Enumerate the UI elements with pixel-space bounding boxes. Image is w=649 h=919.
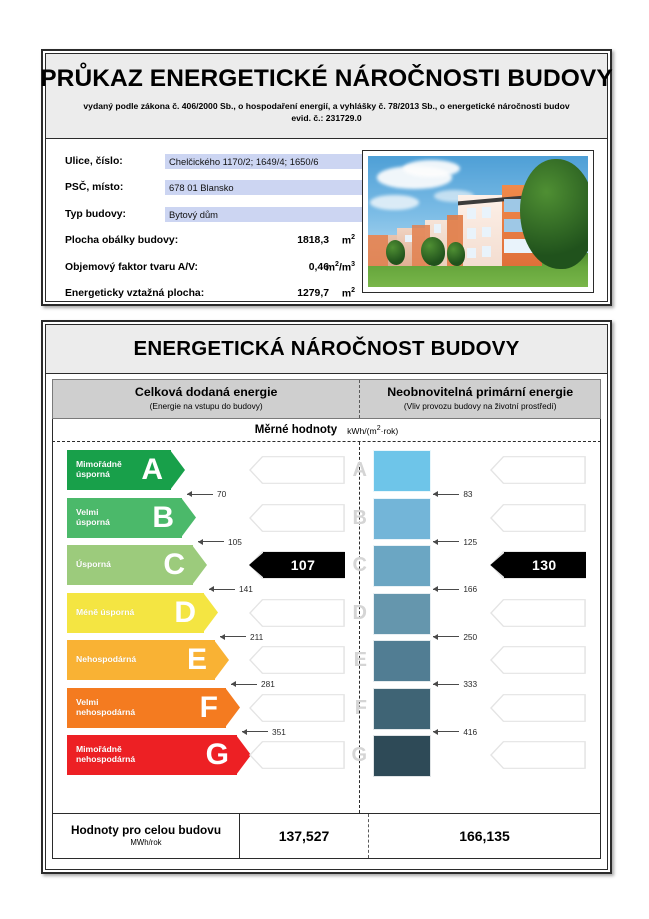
energy-class-letter: C [163, 550, 185, 580]
field-postcode-city: PSČ, místo: 678 01 Blansko [65, 177, 365, 199]
threshold-arrow-icon [433, 731, 459, 732]
identification-fields: Ulice, číslo: Chelčického 1170/2; 1649/4… [65, 150, 365, 309]
energy-scale-area: Mimořádně úspornáA70Velmi úspornáB105Úsp… [52, 441, 601, 813]
photo-tree [447, 242, 465, 266]
photo-window [482, 207, 491, 217]
threshold-value: 281 [261, 679, 275, 689]
document-subtitle-line1: vydaný podle zákona č. 406/2000 Sb., o h… [83, 101, 569, 113]
result-slot-primary-f [490, 694, 586, 722]
threshold-value: 125 [463, 537, 477, 547]
metric-envelope-area-unit: m2 [342, 234, 355, 246]
energy-class-bar-d: Méně úspornáD [67, 593, 218, 633]
totals-label-main: Hodnoty pro celou budovu [71, 825, 221, 837]
totals-label-unit: MWh/rok [130, 839, 161, 847]
energy-class-name: Velmi nehospodárná [67, 698, 135, 717]
unit-row-label: Měrné hodnoty [255, 424, 337, 436]
result-marker-delivered: 107 [249, 552, 345, 578]
column-header-primary: Neobnovitelná primární energie (Vliv pro… [360, 380, 600, 418]
energy-class-arrow-tip [214, 640, 229, 680]
energy-column-headers: Celková dodaná energie (Energie na vstup… [52, 379, 601, 419]
threshold-marker-primary: 416 [433, 727, 477, 737]
threshold-arrow-icon [187, 494, 213, 495]
energy-section-title: ENERGETICKÁ NÁROČNOST BUDOVY [133, 337, 519, 361]
threshold-value: 105 [228, 537, 242, 547]
primary-energy-block-f [373, 688, 431, 730]
metric-envelope-area: Plocha obálky budovy: 1818,3 m2 [65, 230, 365, 252]
result-marker-tip [490, 552, 505, 578]
energy-class-arrow: Mimořádně úspornáA [67, 450, 185, 490]
result-marker-value: 130 [520, 557, 557, 573]
delivered-energy-column: Mimořádně úspornáA70Velmi úspornáB105Úsp… [53, 442, 359, 813]
metric-shape-factor-unit: m2/m3 [326, 261, 355, 273]
threshold-arrow-icon [220, 636, 246, 637]
metric-reference-area: Energeticky vztažná plocha: 1279,7 m2 [65, 283, 365, 305]
page-title: PRŮKAZ ENERGETICKÉ NÁROČNOSTI BUDOVY [40, 67, 613, 92]
photo-facade-accent [368, 235, 388, 266]
field-building-type-value[interactable]: Bytový dům [165, 207, 365, 222]
threshold-value: 83 [463, 489, 472, 499]
result-marker-primary: 130 [490, 552, 586, 578]
result-slot-delivered-g: G [249, 741, 345, 769]
photo-tree [386, 240, 406, 265]
energy-class-bar-f: Velmi nehospodárnáF [67, 688, 240, 728]
energy-class-arrow: Mimořádně nehospodárnáG [67, 735, 251, 775]
threshold-marker-primary: 125 [433, 537, 477, 547]
photo-window [467, 248, 476, 258]
field-street-value[interactable]: Chelčického 1170/2; 1649/4; 1650/6 [165, 154, 365, 169]
threshold-arrow-icon [433, 589, 459, 590]
totals-primary-value: 166,135 [369, 814, 600, 858]
result-slot-delivered-e: E [249, 646, 345, 674]
threshold-arrow-icon [433, 636, 459, 637]
energy-performance-panel: ENERGETICKÁ NÁROČNOST BUDOVY Celková dod… [41, 320, 612, 874]
energy-class-arrow: Méně úspornáD [67, 593, 218, 633]
field-postcode-city-value[interactable]: 678 01 Blansko [165, 180, 365, 195]
column-header-delivered: Celková dodaná energie (Energie na vstup… [53, 380, 360, 418]
photo-window [467, 208, 476, 218]
field-building-type: Typ budovy: Bytový dům [65, 203, 365, 225]
identification-panel-inner: PRŮKAZ ENERGETICKÉ NÁROČNOSTI BUDOVY vyd… [45, 53, 608, 302]
threshold-arrow-icon [433, 541, 459, 542]
document-evidence-number: evid. č.: 231729.0 [291, 113, 361, 125]
photo-window [434, 224, 441, 233]
energy-class-arrow-tip [170, 450, 185, 490]
result-marker-value: 107 [279, 557, 316, 573]
threshold-arrow-icon [242, 731, 268, 732]
threshold-value: 141 [239, 584, 253, 594]
energy-class-letter: A [141, 455, 163, 485]
energy-class-arrow-tip [181, 498, 196, 538]
primary-energy-block-c [373, 545, 431, 587]
penb-document: PRŮKAZ ENERGETICKÉ NÁROČNOSTI BUDOVY vyd… [0, 0, 649, 919]
totals-row: Hodnoty pro celou budovu MWh/rok 137,527… [52, 813, 601, 859]
energy-class-bar-c: ÚspornáC [67, 545, 207, 585]
result-slot-primary-b [490, 504, 586, 532]
threshold-marker-primary: 166 [433, 584, 477, 594]
result-slot-primary-e [490, 646, 586, 674]
energy-class-name: Mimořádně úsporná [67, 460, 122, 479]
photo-window [467, 228, 476, 238]
energy-class-name: Velmi úsporná [67, 508, 110, 527]
energy-class-name: Méně úsporná [67, 608, 134, 618]
primary-energy-block-b [373, 498, 431, 540]
photo-window [482, 246, 491, 256]
threshold-value: 70 [217, 489, 226, 499]
document-title-band: PRŮKAZ ENERGETICKÉ NÁROČNOSTI BUDOVY vyd… [46, 54, 607, 139]
metric-shape-factor: Objemový faktor tvaru A/V: 0,46 m2/m3 [65, 256, 365, 278]
field-street: Ulice, číslo: Chelčického 1170/2; 1649/4… [65, 150, 365, 172]
result-slot-primary-g [490, 741, 586, 769]
metric-reference-area-unit: m2 [342, 287, 355, 299]
column-header-delivered-title: Celková dodaná energie [135, 386, 278, 399]
result-slot-delivered-a: A [249, 456, 345, 484]
metric-reference-area-label: Energeticky vztažná plocha: [65, 288, 230, 299]
column-header-primary-subtitle: (Vliv provozu budovy na životní prostřed… [404, 401, 557, 411]
threshold-arrow-icon [198, 541, 224, 542]
energy-class-bar-b: Velmi úspornáB [67, 498, 196, 538]
threshold-arrow-icon [433, 494, 459, 495]
threshold-value: 333 [463, 679, 477, 689]
photo-tree [421, 237, 445, 266]
photo-cloud [403, 160, 460, 177]
energy-class-bar-e: NehospodárnáE [67, 640, 229, 680]
photo-window [405, 235, 412, 243]
energy-class-letter: G [206, 740, 229, 770]
energy-class-arrow-tip [203, 593, 218, 633]
energy-class-arrow: Velmi nehospodárnáF [67, 688, 240, 728]
energy-class-letter: F [200, 693, 218, 723]
primary-energy-block-a [373, 450, 431, 492]
threshold-value: 351 [272, 727, 286, 737]
unit-row: Měrné hodnoty kWh/(m2·rok) [52, 419, 601, 441]
building-photo [368, 156, 588, 287]
column-header-primary-title: Neobnovitelná primární energie [387, 386, 573, 399]
energy-class-arrow-tip [192, 545, 207, 585]
energy-class-name: Mimořádně nehospodárná [67, 745, 135, 764]
threshold-marker-primary: 250 [433, 632, 477, 642]
threshold-arrow-icon [209, 589, 235, 590]
energy-class-letter: D [174, 598, 196, 628]
primary-energy-block-d [373, 593, 431, 635]
result-marker-tip [249, 552, 264, 578]
threshold-value: 166 [463, 584, 477, 594]
threshold-value: 250 [463, 632, 477, 642]
identification-panel: PRŮKAZ ENERGETICKÉ NÁROČNOSTI BUDOVY vyd… [41, 49, 612, 306]
energy-class-letter: B [152, 503, 174, 533]
threshold-arrow-icon [231, 684, 257, 685]
energy-class-bar-g: Mimořádně nehospodárnáG [67, 735, 251, 775]
result-slot-delivered-b: B [249, 504, 345, 532]
threshold-marker-primary: 333 [433, 679, 477, 689]
threshold-value: 211 [250, 632, 263, 642]
energy-class-arrow-tip [225, 688, 240, 728]
field-postcode-city-label: PSČ, místo: [65, 182, 165, 193]
column-header-delivered-subtitle: (Energie na vstupu do budovy) [150, 401, 263, 411]
energy-class-name: Nehospodárná [67, 655, 136, 665]
energy-class-letter: E [187, 645, 207, 675]
threshold-value: 416 [463, 727, 477, 737]
result-slot-delivered-d: D [249, 599, 345, 627]
threshold-marker-primary: 83 [433, 489, 472, 499]
energy-class-arrow: ÚspornáC [67, 545, 207, 585]
result-slot-primary-a [490, 456, 586, 484]
result-slot-delivered-f: F [249, 694, 345, 722]
totals-delivered-value: 137,527 [240, 814, 369, 858]
unit-row-unit: kWh/(m2·rok) [347, 425, 398, 436]
metric-shape-factor-label: Objemový faktor tvaru A/V: [65, 262, 230, 273]
photo-cloud [370, 195, 418, 209]
energy-section-title-band: ENERGETICKÁ NÁROČNOST BUDOVY [46, 325, 607, 374]
energy-class-name: Úsporná [67, 560, 111, 570]
energy-class-arrow: Velmi úspornáB [67, 498, 196, 538]
field-building-type-label: Typ budovy: [65, 209, 165, 220]
photo-window [482, 227, 491, 237]
result-slot-primary-d [490, 599, 586, 627]
primary-energy-column: 83125166250333416130 [359, 442, 600, 813]
primary-energy-block-e [373, 640, 431, 682]
building-photo-frame [362, 150, 594, 293]
energy-performance-panel-inner: ENERGETICKÁ NÁROČNOST BUDOVY Celková dod… [45, 324, 608, 870]
energy-class-bar-a: Mimořádně úspornáA [67, 450, 185, 490]
field-street-label: Ulice, číslo: [65, 156, 165, 167]
primary-energy-block-g [373, 735, 431, 777]
energy-class-arrow: NehospodárnáE [67, 640, 229, 680]
totals-label: Hodnoty pro celou budovu MWh/rok [53, 814, 240, 858]
threshold-arrow-icon [433, 684, 459, 685]
metric-envelope-area-label: Plocha obálky budovy: [65, 235, 230, 246]
